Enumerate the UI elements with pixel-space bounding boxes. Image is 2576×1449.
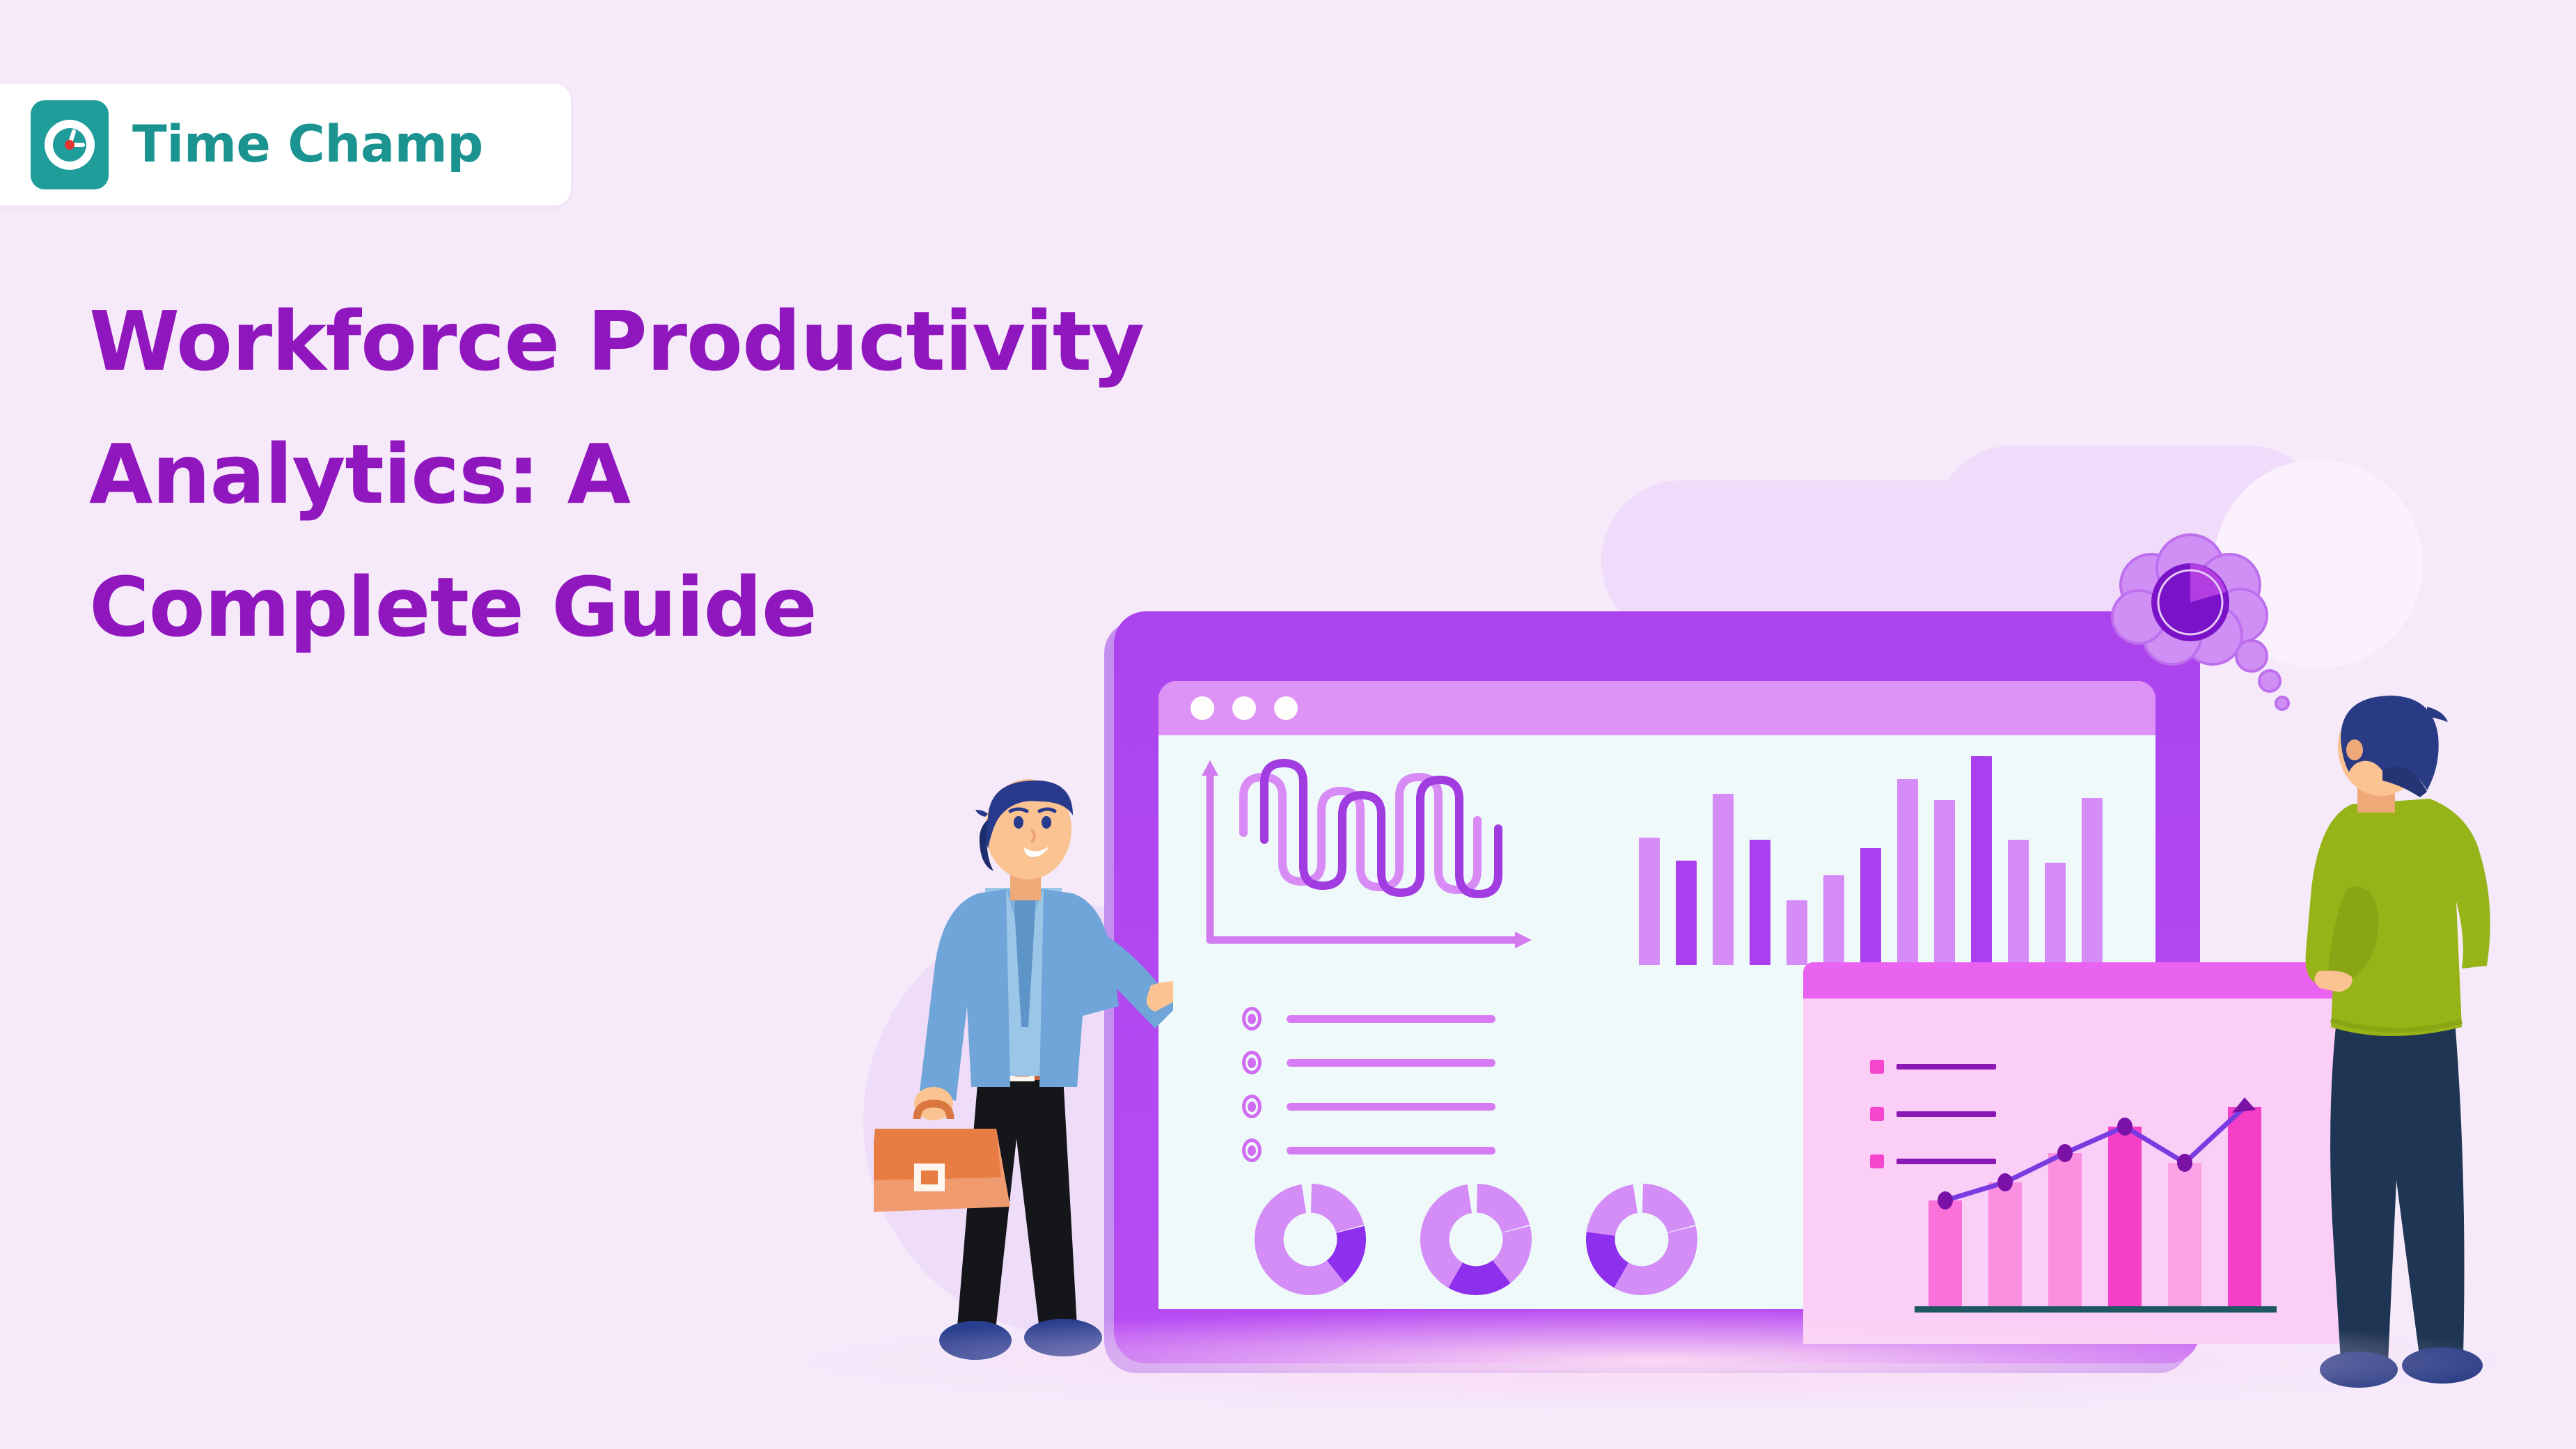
pink-card-header-bar xyxy=(1803,962,2339,998)
window-dot-icon xyxy=(1232,696,1256,720)
page-title-line-3: Complete Guide xyxy=(89,541,1551,674)
page-title: Workforce Productivity Analytics: A Comp… xyxy=(89,275,1551,674)
bar xyxy=(2048,1153,2082,1306)
bar xyxy=(2045,863,2066,965)
page-title-line-2: Analytics: A xyxy=(89,408,1551,541)
brand-name: Time Champ xyxy=(132,115,483,174)
thought-bubble-dot xyxy=(2276,697,2288,710)
radio-bullet-icon xyxy=(1242,1051,1262,1074)
page-title-line-1: Workforce Productivity xyxy=(89,275,1551,408)
data-point xyxy=(1997,1173,2013,1191)
bar xyxy=(2168,1163,2201,1306)
data-point xyxy=(2117,1118,2133,1136)
window-dot-icon xyxy=(1274,696,1298,720)
pink-growth-chart xyxy=(1915,1095,2277,1324)
radio-bullet-icon xyxy=(1242,1138,1262,1162)
bar xyxy=(1934,800,1955,965)
bar xyxy=(1676,861,1697,965)
bar xyxy=(2082,798,2103,965)
legend-swatch-icon xyxy=(1870,1060,1884,1074)
pie-clock-icon xyxy=(2151,563,2229,641)
radio-bullet-icon xyxy=(1242,1095,1262,1118)
eye xyxy=(1014,816,1023,829)
data-point xyxy=(2057,1144,2073,1162)
bar xyxy=(2108,1127,2142,1306)
bar xyxy=(1750,840,1770,965)
bar xyxy=(1929,1200,1962,1306)
donut-chart-2 xyxy=(1420,1181,1532,1298)
bar xyxy=(2228,1107,2261,1306)
clock-target-icon xyxy=(31,100,109,189)
browser-title-bar xyxy=(1159,681,2155,735)
floor-glow xyxy=(801,1309,2506,1413)
pink-dashboard-card xyxy=(1803,962,2339,1344)
list-item xyxy=(1242,1007,1495,1031)
squiggle-line-chart xyxy=(1200,751,1562,960)
donut-chart-1 xyxy=(1255,1181,1366,1298)
monitor-list xyxy=(1242,1007,1495,1162)
character-businessman xyxy=(874,776,1173,1389)
donut-chart-group xyxy=(1255,1181,1697,1298)
legend-row xyxy=(1870,1060,1996,1074)
thought-bubble-dot xyxy=(2236,641,2267,671)
radio-bullet-icon xyxy=(1242,1007,1262,1031)
bar xyxy=(1713,794,1734,965)
thought-bubble xyxy=(2103,529,2304,738)
thought-bubble-dot xyxy=(2259,671,2280,691)
bar xyxy=(1786,900,1807,965)
list-item xyxy=(1242,1138,1495,1162)
window-dot-icon xyxy=(1191,696,1214,720)
list-item xyxy=(1242,1051,1495,1074)
data-point xyxy=(1938,1191,1953,1209)
donut-chart-3 xyxy=(1586,1181,1697,1298)
bar xyxy=(1639,838,1660,965)
bar xyxy=(1988,1182,2022,1306)
eye xyxy=(1042,816,1051,829)
legend-swatch-icon xyxy=(1870,1107,1884,1121)
pink-card-body xyxy=(1803,962,2339,1344)
poster-canvas: Workforce Productivity Analytics: A Comp… xyxy=(0,0,2576,1449)
bar xyxy=(1823,875,1844,965)
list-item-line xyxy=(1287,1059,1495,1067)
list-item-line xyxy=(1287,1103,1495,1111)
bar xyxy=(1897,779,1918,965)
brand-logo-badge[interactable]: Time Champ xyxy=(0,84,571,205)
data-point xyxy=(2177,1154,2192,1172)
list-item xyxy=(1242,1095,1495,1118)
bar xyxy=(1971,756,1992,965)
character-observer xyxy=(2291,693,2548,1396)
legend-swatch-icon xyxy=(1870,1154,1884,1168)
legend-label-line xyxy=(1896,1064,1996,1070)
list-item-line xyxy=(1287,1147,1495,1154)
list-item-line xyxy=(1287,1015,1495,1023)
bar xyxy=(2008,840,2029,965)
monitor-bar-chart xyxy=(1639,756,2119,965)
bar xyxy=(1860,848,1881,965)
